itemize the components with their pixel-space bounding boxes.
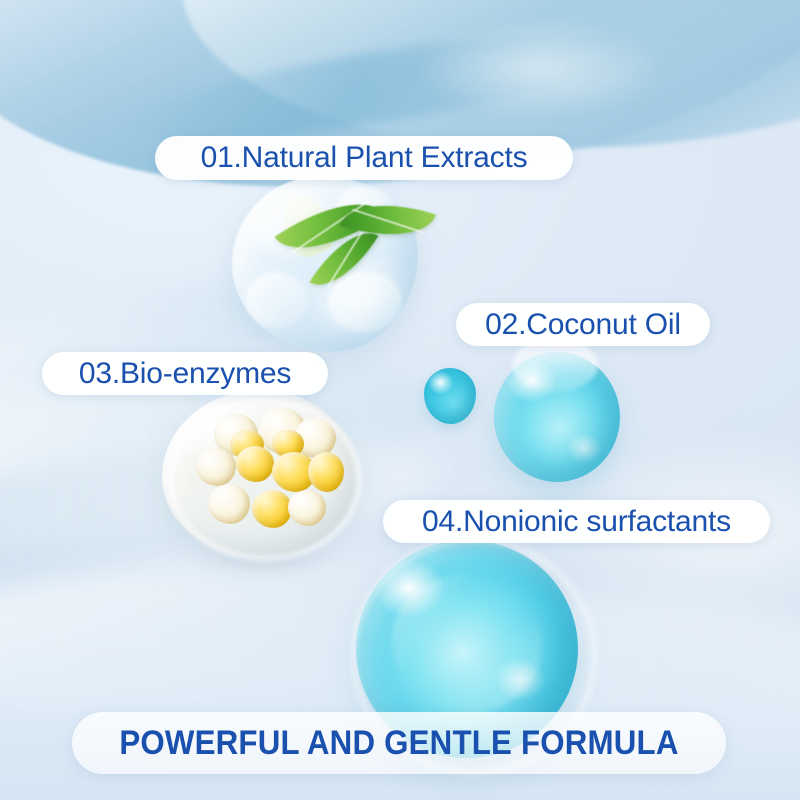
leaf-vein bbox=[352, 209, 423, 233]
ingredient-label-02: 02.Coconut Oil bbox=[456, 303, 710, 346]
ingredient-visual-coconut-oil-droplet bbox=[424, 368, 476, 424]
ingredient-label-04: 04.Nonionic surfactants bbox=[383, 500, 770, 543]
capsule-rim bbox=[168, 398, 362, 562]
product-feature-poster: 01.Natural Plant Extracts 02.Coconut Oil… bbox=[0, 0, 800, 800]
background-silk-highlight bbox=[390, 8, 690, 128]
ingredient-visual-bio-enzymes bbox=[162, 390, 358, 558]
ingredient-label-03-text: 03.Bio-enzymes bbox=[79, 357, 291, 391]
gel-facet bbox=[328, 272, 402, 332]
formula-banner: POWERFUL AND GENTLE FORMULA bbox=[72, 712, 726, 774]
ingredient-label-01: 01.Natural Plant Extracts bbox=[155, 136, 573, 180]
gel-facet bbox=[246, 272, 308, 328]
sphere-highlight bbox=[512, 338, 598, 392]
ingredient-visual-coconut-oil-sphere bbox=[494, 352, 620, 482]
ingredient-label-01-text: 01.Natural Plant Extracts bbox=[201, 141, 528, 175]
ingredient-label-04-text: 04.Nonionic surfactants bbox=[422, 505, 731, 539]
ingredient-label-03: 03.Bio-enzymes bbox=[42, 352, 328, 395]
ingredient-label-02-text: 02.Coconut Oil bbox=[485, 308, 681, 342]
formula-banner-text: POWERFUL AND GENTLE FORMULA bbox=[119, 724, 678, 763]
ingredient-visual-natural-plant-extracts bbox=[232, 176, 418, 352]
